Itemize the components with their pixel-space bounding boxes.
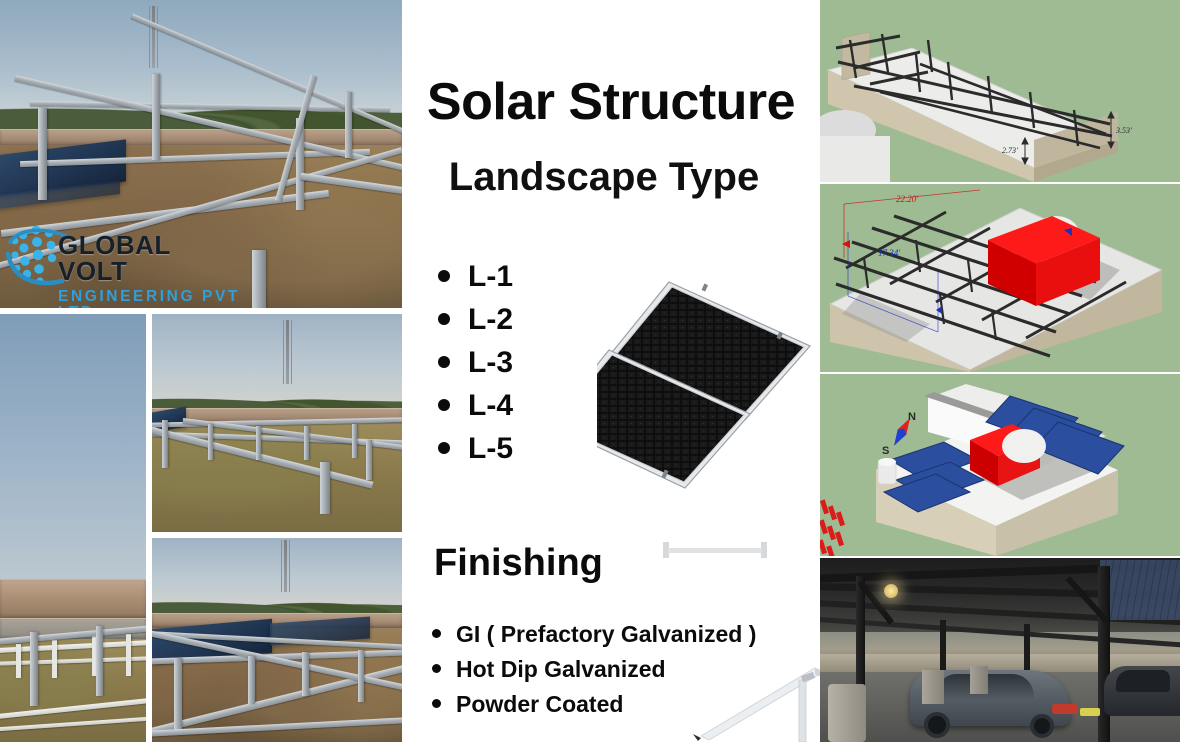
svg-text:N: N: [908, 411, 916, 423]
dimension-line-icon: [660, 538, 770, 564]
list-item: L-1: [430, 262, 513, 292]
list-item: GI ( Prefactory Galvanized ): [424, 622, 756, 647]
finishing-label: GI ( Prefactory Galvanized ): [456, 621, 756, 647]
dimension-label: 3.53': [1116, 126, 1132, 135]
bullet-icon: [432, 629, 441, 638]
list-item: L-4: [430, 391, 513, 421]
type-label: L-4: [468, 389, 513, 422]
render-rooftop-structure-plan: 22.20' 17.34': [820, 184, 1180, 372]
finishing-label: Hot Dip Galvanized: [456, 656, 666, 682]
bullet-icon: [432, 699, 441, 708]
page-title: Solar Structure: [402, 72, 820, 132]
brand-name: GLOBAL VOLT: [58, 232, 246, 284]
bullet-icon: [438, 270, 450, 282]
brand-tagline: ENGINEERING PVT LTD: [58, 289, 246, 308]
type-label: L-3: [468, 346, 513, 379]
finishing-label: Powder Coated: [456, 691, 623, 717]
finishing-heading: Finishing: [434, 542, 603, 585]
dimension-label: 2.73': [1002, 146, 1018, 155]
list-item: L-3: [430, 348, 513, 378]
bullet-icon: [438, 399, 450, 411]
landscape-type-list: L-1 L-2 L-3 L-4 L-5: [430, 262, 513, 477]
photo-ground-mount-rows-tower: [152, 314, 402, 532]
type-label: L-2: [468, 303, 513, 336]
svg-text:S: S: [882, 445, 889, 457]
page-subtitle: Landscape Type: [402, 155, 806, 200]
left-photo-column: GLOBAL VOLT ENGINEERING PVT LTD: [0, 0, 402, 742]
solar-panel-illustration: [597, 268, 827, 498]
type-label: L-5: [468, 432, 513, 465]
bullet-icon: [438, 442, 450, 454]
galvanized-rail-illustration: [687, 662, 827, 742]
list-item: L-5: [430, 434, 513, 464]
bullet-icon: [438, 313, 450, 325]
render-rooftop-structure-elevation: 3.53' 2.73': [820, 0, 1180, 182]
dimension-label: 22.20': [896, 194, 918, 204]
poster-canvas: GLOBAL VOLT ENGINEERING PVT LTD: [0, 0, 1180, 742]
bullet-icon: [432, 664, 441, 673]
photo-ground-mount-structure-wide: GLOBAL VOLT ENGINEERING PVT LTD: [0, 0, 402, 308]
right-render-column: 3.53' 2.73': [820, 0, 1180, 742]
brand-logo: GLOBAL VOLT ENGINEERING PVT LTD: [6, 222, 246, 296]
photo-ground-mount-with-panels: [152, 538, 402, 742]
list-item: L-2: [430, 305, 513, 335]
photo-solar-carport: [820, 558, 1180, 742]
photo-ground-mount-rows-dusk: [0, 314, 146, 742]
center-content-column: Solar Structure Landscape Type: [402, 0, 820, 742]
render-rooftop-solar-array: N S N S: [820, 374, 1180, 556]
type-label: L-1: [468, 260, 513, 293]
bullet-icon: [438, 356, 450, 368]
dimension-label: 17.34': [878, 248, 900, 258]
